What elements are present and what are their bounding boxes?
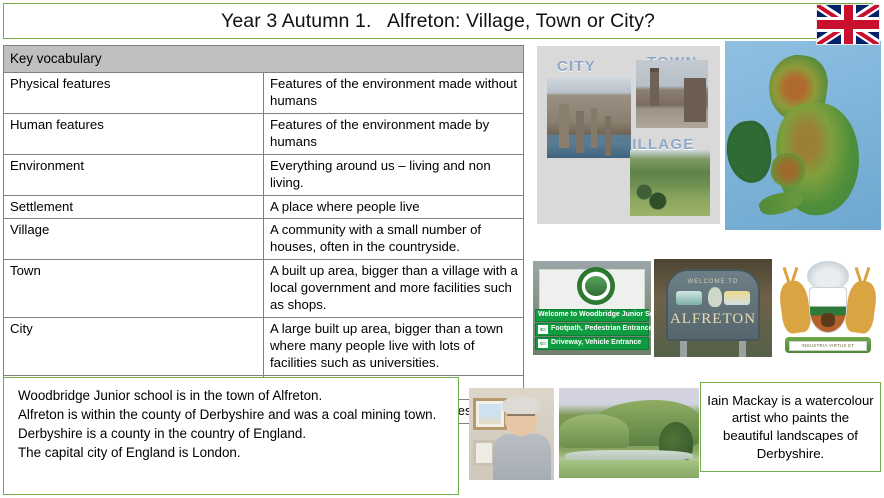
table-header-row: Key vocabulary <box>4 46 524 73</box>
vocab-term: Physical features <box>4 73 264 114</box>
artist-glasses-icon <box>507 414 535 421</box>
vocab-definition: A built up area, bigger than a village w… <box>264 260 524 318</box>
vocab-term: Town <box>4 260 264 318</box>
table-row: Human features Features of the environme… <box>4 113 524 154</box>
table-row: Physical features Features of the enviro… <box>4 73 524 114</box>
sign-arrow-icon: ⇐ <box>538 339 548 348</box>
fact-line-1: Woodbridge Junior school is in the town … <box>18 386 448 405</box>
alfreton-sign-name: ALFRETON <box>668 311 758 328</box>
slide-title-box: Year 3 Autumn 1. Alfreton: Village, Town… <box>3 3 873 39</box>
vocab-term: Environment <box>4 154 264 195</box>
derbyshire-coat-of-arms-image: INDUSTRIA VIRTUS ET FORTITUDO <box>775 257 881 357</box>
artist-caption-text: Iain Mackay is a watercolour artist who … <box>706 392 875 462</box>
sign-post-right <box>739 341 746 357</box>
table-row: Town A built up area, bigger than a vill… <box>4 260 524 318</box>
page-title: Year 3 Autumn 1. Alfreton: Village, Town… <box>221 10 655 33</box>
vocab-term: Village <box>4 219 264 260</box>
school-sign-line1: Welcome to Woodbridge Junior School <box>538 309 651 320</box>
school-crest-icon <box>577 267 615 305</box>
fact-line-2: Alfreton is within the county of Derbysh… <box>18 405 448 424</box>
vocab-definition: Features of the environment made by huma… <box>264 113 524 154</box>
collage-label-city: CITY <box>557 58 596 75</box>
painting-hill-secondary <box>559 414 629 448</box>
vocab-definition: A community with a small number of house… <box>264 219 524 260</box>
sign-plate: WELCOME TO ALFRETON <box>666 269 760 341</box>
table-row: Settlement A place where people live <box>4 195 524 219</box>
watercolour-landscape-image <box>559 388 699 478</box>
artist-portrait-image <box>469 388 554 480</box>
alfreton-sign-welcome: WELCOME TO <box>668 279 758 285</box>
uk-relief-map-image <box>725 41 881 230</box>
fact-line-3: Derbyshire is a county in the country of… <box>18 424 448 443</box>
vocab-definition: Features of the environment made without… <box>264 73 524 114</box>
key-vocabulary-table: Key vocabulary Physical features Feature… <box>3 45 524 424</box>
artist-caption-box: Iain Mackay is a watercolour artist who … <box>700 382 881 472</box>
flag-cross-red-horizontal <box>817 20 879 29</box>
city-photo-london <box>547 78 631 158</box>
painting-field <box>559 460 699 478</box>
table-header-label: Key vocabulary <box>4 46 524 73</box>
vocab-term: City <box>4 318 264 376</box>
fact-line-4: The capital city of England is London. <box>18 443 448 462</box>
arms-motto: INDUSTRIA VIRTUS ET FORTITUDO <box>789 341 867 351</box>
table-row: Environment Everything around us – livin… <box>4 154 524 195</box>
artist-hair <box>502 396 540 414</box>
vocab-term: Human features <box>4 113 264 154</box>
slide-page: Year 3 Autumn 1. Alfreton: Village, Town… <box>0 0 884 498</box>
arms-stag-icon <box>821 313 835 327</box>
local-facts-box: Woodbridge Junior school is in the town … <box>3 377 459 495</box>
vocab-definition: Everything around us – living and non li… <box>264 154 524 195</box>
wall-picture-frame-small <box>473 440 495 466</box>
sign-motif-right <box>724 291 750 305</box>
arms-stag-supporter-right <box>844 279 879 334</box>
table-row: City A large built up area, bigger than … <box>4 318 524 376</box>
sign-motif-center <box>708 287 722 307</box>
settlement-types-collage: CITY TOWN VILLAGE <box>537 46 720 224</box>
vocab-definition: A place where people live <box>264 195 524 219</box>
table-row: Village A community with a small number … <box>4 219 524 260</box>
alfreton-welcome-sign-image: WELCOME TO ALFRETON <box>654 259 772 357</box>
town-photo-church <box>636 60 708 128</box>
sign-motif-left <box>676 291 702 305</box>
union-jack-flag-icon <box>816 4 880 45</box>
school-sign-line2: Footpath, Pedestrian Entrance <box>551 323 651 334</box>
vocab-definition: A large built up area, bigger than a tow… <box>264 318 524 376</box>
arms-stag-supporter-left <box>778 279 813 334</box>
sign-arrow-icon: ⇐ <box>538 325 548 334</box>
sign-post-left <box>680 341 687 357</box>
vocab-term: Settlement <box>4 195 264 219</box>
artist-body <box>493 434 551 480</box>
village-photo-countryside <box>630 150 710 216</box>
school-sign-line3: Driveway, Vehicle Entrance <box>551 337 641 348</box>
woodbridge-school-sign-image: Welcome to Woodbridge Junior School ⇐ Fo… <box>533 261 651 355</box>
